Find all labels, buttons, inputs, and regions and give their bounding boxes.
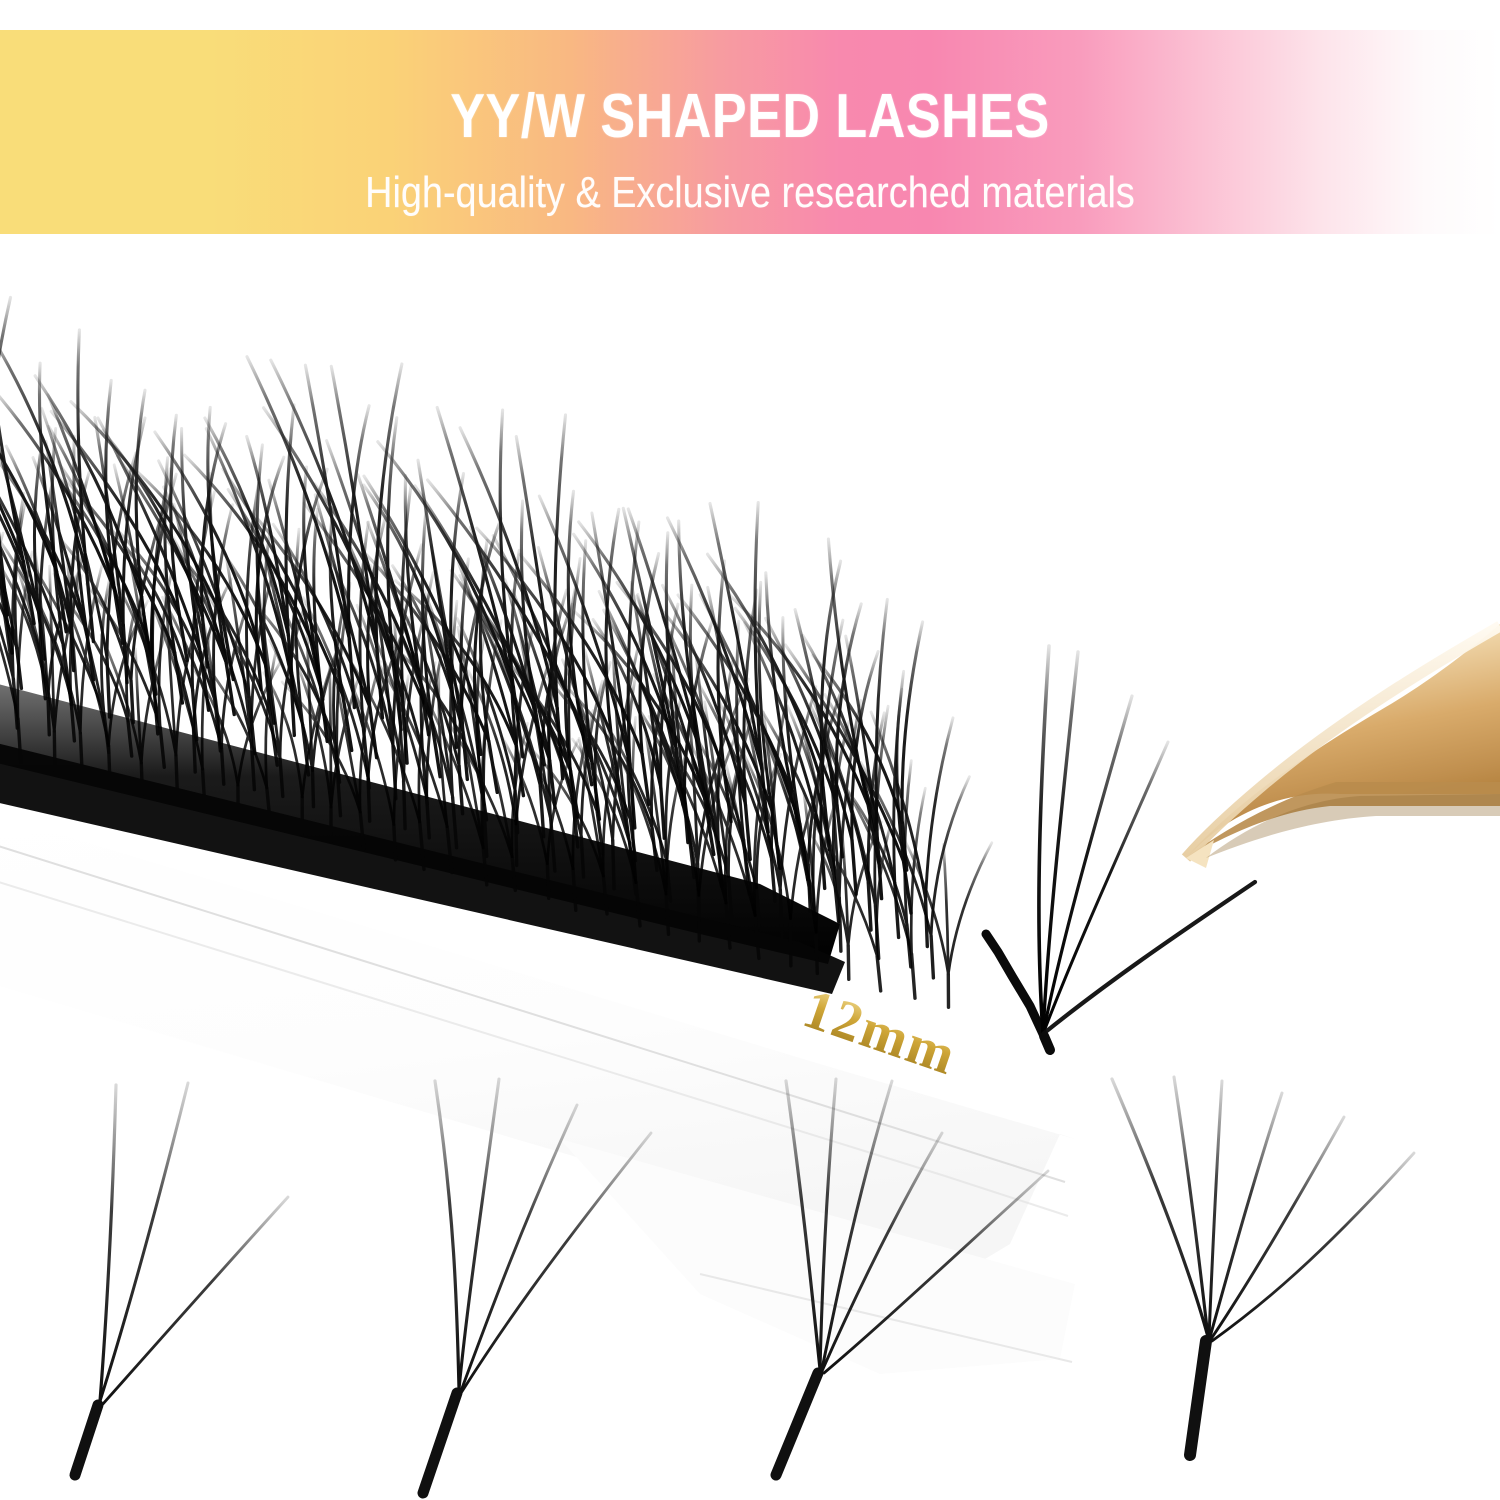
product-infographic: YY/W SHAPED LASHES High-quality & Exclus… bbox=[0, 0, 1500, 1500]
fan-6-branch bbox=[1090, 1075, 1430, 1500]
fan-4-branch bbox=[395, 1075, 735, 1500]
page-title: YY/W SHAPED LASHES bbox=[120, 86, 1380, 148]
page-subtitle: High-quality & Exclusive researched mate… bbox=[105, 170, 1395, 216]
lash-fan-sample-row bbox=[0, 1075, 1500, 1500]
header-banner: YY/W SHAPED LASHES High-quality & Exclus… bbox=[0, 30, 1500, 234]
fan-3-branch bbox=[20, 1075, 360, 1500]
fan-5-branch bbox=[740, 1075, 1080, 1500]
